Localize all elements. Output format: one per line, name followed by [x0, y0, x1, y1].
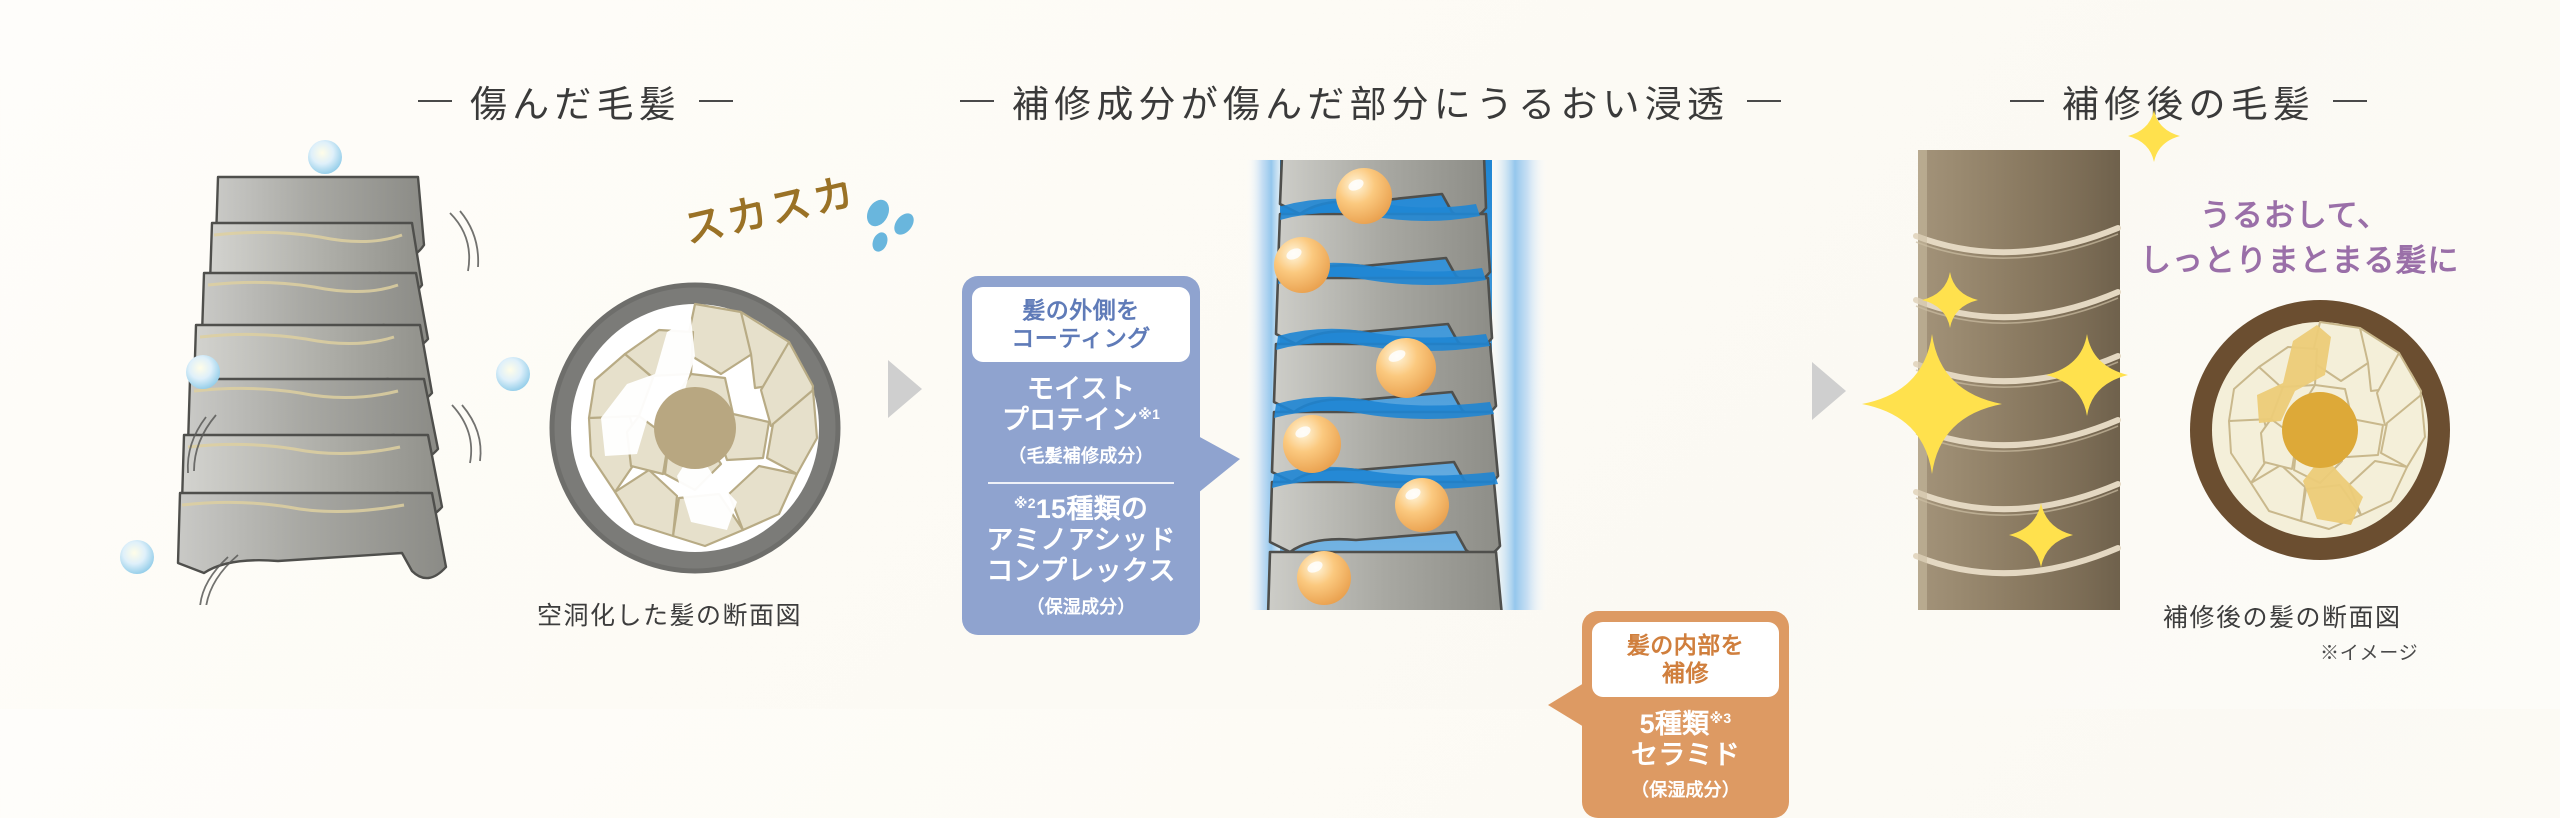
result-message: うるおして、 しっとりまとまる髪に	[2200, 194, 2459, 284]
callout-internal-repair-header-line2: 補修	[1598, 659, 1773, 687]
callout-coating-header-line2: コーティング	[978, 324, 1184, 352]
section-title-middle-text: 補修成分が傷んだ部分にうるおい浸透	[1012, 74, 1729, 128]
ingredient-ceramide-note: （保湿成分）	[1596, 776, 1775, 802]
result-message-line2: しっとりまとまる髪に	[2140, 239, 2459, 284]
callout-internal-repair-header-line1: 髪の内部を	[1598, 631, 1773, 659]
ingredient-amino-acid-line1: ※215種類の	[976, 494, 1186, 525]
ingredient-moist-protein-line1: モイスト	[976, 374, 1186, 405]
left-cross-section-caption: 空洞化した髪の断面図	[537, 596, 802, 632]
callout-coating-header-line1: 髪の外側を	[978, 296, 1184, 324]
callout-internal-repair: 髪の内部を 補修 5種類※3 セラミド （保湿成分）	[1582, 611, 1789, 818]
ingredient-amino-acid-line2: アミノアシッド	[976, 525, 1186, 556]
image-disclaimer-note: ※イメージ	[2320, 638, 2418, 665]
ingredient-ceramide: 5種類※3 セラミド	[1596, 709, 1775, 772]
callout-internal-repair-header: 髪の内部を 補修	[1592, 622, 1779, 697]
title-dash-right	[2333, 100, 2367, 102]
sparkle-icon	[2126, 108, 2182, 164]
callout-coating-body: モイスト プロテイン※1 （毛髪補修成分） ※215種類の アミノアシッド コン…	[972, 362, 1190, 619]
hollow-hair-cross-section	[545, 278, 845, 578]
ingredient-ceramide-line2: セラミド	[1596, 740, 1775, 771]
moisture-droplet	[308, 140, 342, 174]
separator-arrow-2	[1812, 362, 1846, 420]
ingredient-amino-acid-note: （保湿成分）	[976, 593, 1186, 619]
section-title-left-text: 傷んだ毛髪	[470, 74, 681, 128]
sparkle-icon	[2044, 332, 2130, 418]
section-title-right-text: 補修後の毛髪	[2062, 74, 2315, 128]
title-dash-left	[418, 100, 452, 102]
title-dash-left	[2010, 100, 2044, 102]
section-title-middle: 補修成分が傷んだ部分にうるおい浸透	[960, 74, 1781, 128]
ingredient-ceramide-line1: 5種類※3	[1596, 709, 1775, 740]
title-dash-right	[699, 100, 733, 102]
sparkle-icon	[1920, 270, 1980, 330]
sparkle-icon	[2006, 500, 2076, 570]
ingredient-amino-acid: ※215種類の アミノアシッド コンプレックス	[976, 494, 1186, 588]
callout-coating: 髪の外側を コーティング モイスト プロテイン※1 （毛髪補修成分） ※215種…	[962, 276, 1200, 635]
infographic-root: 傷んだ毛髪 補修成分が傷んだ部分にうるおい浸透 補修後の毛髪	[0, 0, 2560, 709]
right-cross-section-caption: 補修後の髪の断面図	[2163, 598, 2402, 634]
moisture-droplet	[186, 355, 220, 389]
footnote-mark-2: ※2	[1014, 495, 1036, 511]
title-dash-right	[1747, 100, 1781, 102]
penetrating-hair-illustration	[1246, 160, 1576, 610]
ingredient-moist-protein-line2: プロテイン※1	[976, 405, 1186, 436]
footnote-mark-3: ※3	[1709, 710, 1731, 726]
section-title-left: 傷んだ毛髪	[418, 74, 733, 128]
moisture-droplet	[120, 540, 154, 574]
section-title-right: 補修後の毛髪	[2010, 74, 2367, 128]
splash-droplets-icon	[856, 198, 922, 258]
sparkle-icon	[1852, 324, 2012, 484]
ingredient-amino-acid-line3: コンプレックス	[976, 556, 1186, 587]
ingredient-moist-protein-note: （毛髪補修成分）	[976, 442, 1186, 468]
moisture-droplet	[496, 357, 530, 391]
title-dash-left	[960, 100, 994, 102]
ingredient-moist-protein: モイスト プロテイン※1	[976, 374, 1186, 437]
footnote-mark-1: ※1	[1138, 406, 1160, 422]
callout-divider	[988, 482, 1174, 484]
callout-internal-repair-pointer	[1548, 683, 1584, 727]
callout-coating-header: 髪の外側を コーティング	[972, 287, 1190, 362]
result-message-line1: うるおして、	[2200, 198, 2389, 234]
callout-coating-pointer	[1198, 436, 1240, 493]
skasuka-annotation: スカスカ	[678, 159, 863, 255]
callout-internal-repair-body: 5種類※3 セラミド （保湿成分）	[1592, 697, 1779, 803]
separator-arrow-1	[888, 360, 922, 418]
repaired-hair-cross-section	[2185, 295, 2455, 565]
